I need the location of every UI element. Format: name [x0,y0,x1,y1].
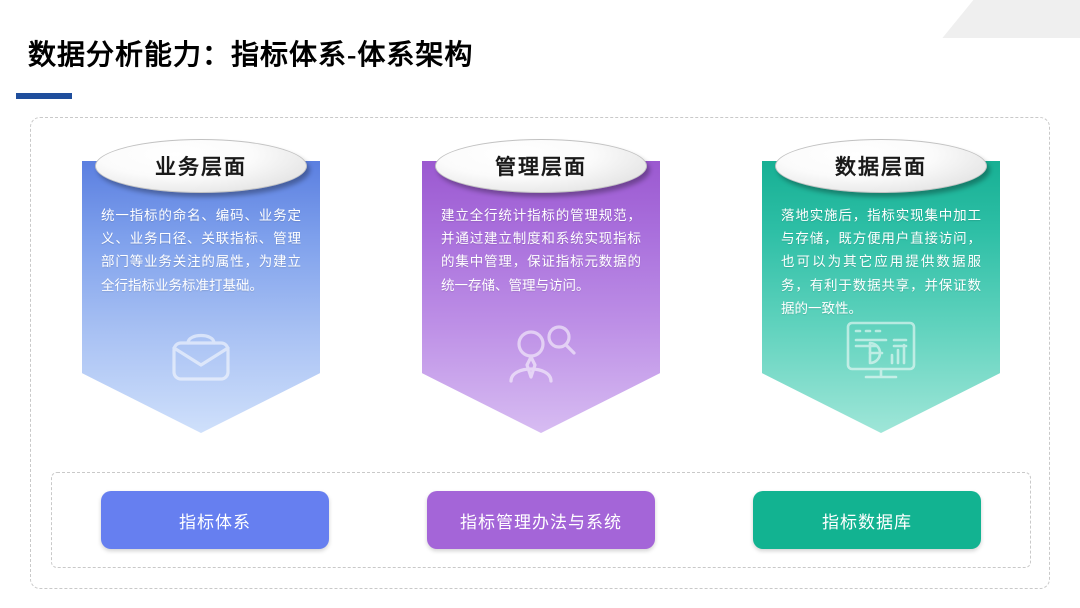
shield-business: 统一指标的命名、编码、业务定义、业务口径、关联指标、管理部门等业务关注的属性，为… [82,161,320,433]
briefcase-icon [165,323,237,385]
content-panel: 统一指标的命名、编码、业务定义、业务口径、关联指标、管理部门等业务关注的属性，为… [30,117,1050,589]
shield-body-text-management: 建立全行统计指标的管理规范，并通过建立制度和系统实现指标的集中管理，保证指标元数… [441,205,641,298]
footer-button-metric-system[interactable]: 指标体系 [101,491,329,549]
oval-label-management: 管理层面 [435,139,647,193]
layer-column-management[interactable]: 建立全行统计指标的管理规范，并通过建立制度和系统实现指标的集中管理，保证指标元数… [408,139,674,433]
shield-body-text-data: 落地实施后，指标实现集中加工与存储，既方便用户直接访问，也可以为其它应用提供数据… [781,205,981,321]
oval-label-data: 数据层面 [775,139,987,193]
footer-dashed-box: 指标体系 指标管理办法与系统 指标数据库 [51,472,1031,568]
dashboard-monitor-icon [840,319,922,385]
page-title: 数据分析能力：指标体系-体系架构 [28,38,473,74]
shield-management: 建立全行统计指标的管理规范，并通过建立制度和系统实现指标的集中管理，保证指标元数… [422,161,660,433]
layer-columns: 统一指标的命名、编码、业务定义、业务口径、关联指标、管理部门等业务关注的属性，为… [31,118,1051,458]
oval-label-text-data: 数据层面 [835,151,927,181]
corner-decoration [908,0,1080,38]
title-underline-rule [16,93,72,99]
shield-data: 落地实施后，指标实现集中加工与存储，既方便用户直接访问，也可以为其它应用提供数据… [762,161,1000,433]
oval-label-text-business: 业务层面 [155,151,247,181]
footer-button-metric-management[interactable]: 指标管理办法与系统 [427,491,655,549]
shield-body-text-business: 统一指标的命名、编码、业务定义、业务口径、关联指标、管理部门等业务关注的属性，为… [101,205,301,298]
layer-column-business[interactable]: 统一指标的命名、编码、业务定义、业务口径、关联指标、管理部门等业务关注的属性，为… [68,139,334,433]
layer-column-data[interactable]: 落地实施后，指标实现集中加工与存储，既方便用户直接访问，也可以为其它应用提供数据… [748,139,1014,433]
oval-label-business: 业务层面 [95,139,307,193]
footer-button-metric-database[interactable]: 指标数据库 [753,491,981,549]
person-management-icon [503,321,579,385]
page-title-block: 数据分析能力：指标体系-体系架构 [28,38,473,74]
oval-label-text-management: 管理层面 [495,151,587,181]
